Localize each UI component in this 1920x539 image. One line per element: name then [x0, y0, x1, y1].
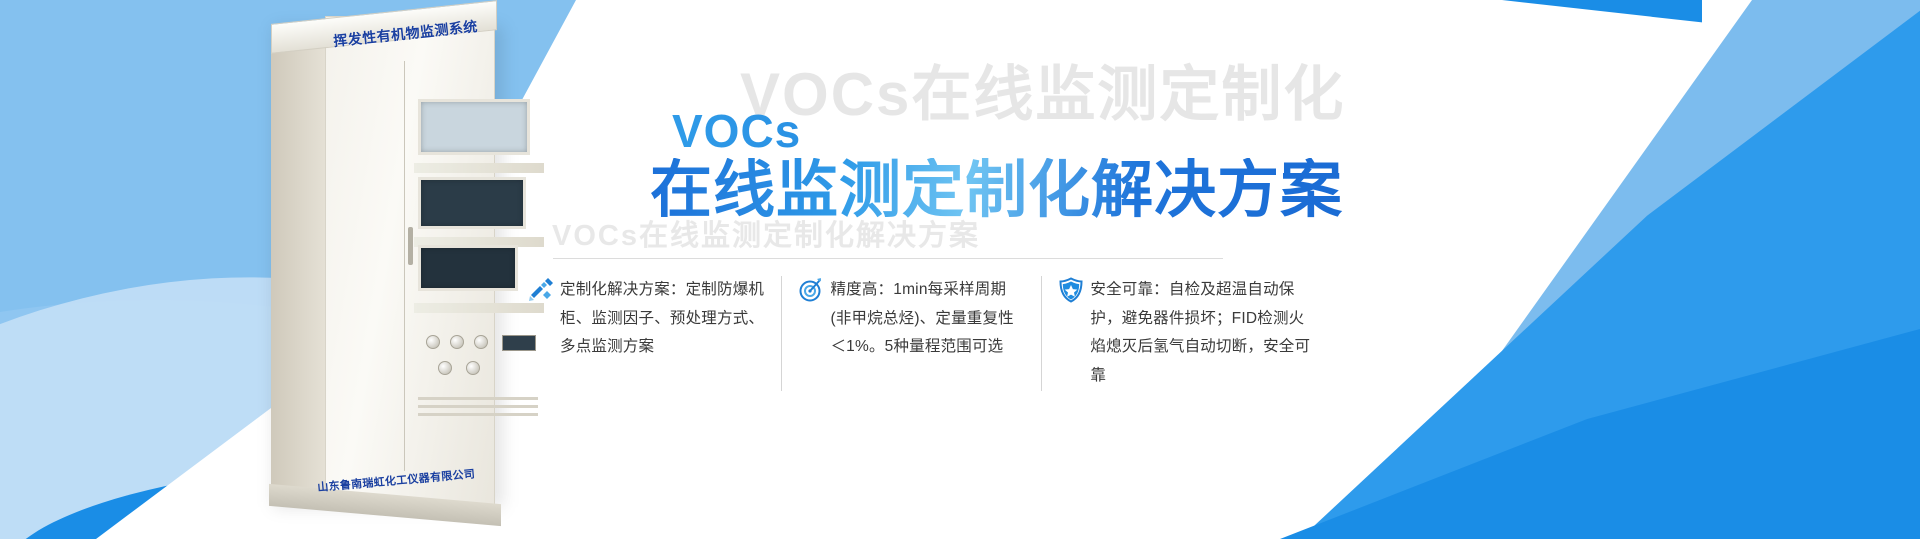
- feature-item-high-precision: 精度高：1min每采样周期(非甲烷总烃)、定量重复性＜1%。5种量程范围可选: [781, 276, 1041, 391]
- feature-text: 精度高：1min每采样周期(非甲烷总烃)、定量重复性＜1%。5种量程范围可选: [830, 276, 1025, 362]
- cabinet-knob-2: [450, 335, 464, 349]
- cabinet-vent-3: [418, 413, 538, 416]
- cabinet-display-lower: [418, 245, 518, 291]
- feature-text: 安全可靠：自检及超温自动保护，避免器件损坏；FID检测火焰熄灭后氢气自动切断，安…: [1090, 276, 1314, 391]
- feature-item-custom-solution: 定制化解决方案：定制防爆机柜、监测因子、预处理方式、多点监测方案: [520, 276, 781, 391]
- target-accuracy-icon: [798, 277, 824, 303]
- feature-text: 定制化解决方案：定制防爆机柜、监测因子、预处理方式、多点监测方案: [560, 276, 765, 362]
- pencil-ruler-icon: [528, 277, 554, 303]
- cabinet-knob-4: [438, 361, 452, 375]
- headline-vocs: VOCs: [672, 108, 1343, 154]
- cabinet-display-middle: [418, 177, 526, 229]
- headline-chinese: 在线监测定制化解决方案: [650, 158, 1343, 223]
- vocs-promo-banner: VOCs在线监测定制化 VOCs在线监测定制化解决方案 挥发性有机物监测系统: [0, 0, 1920, 539]
- cabinet-door-handle: [408, 227, 413, 265]
- cabinet-door-seam: [404, 61, 405, 471]
- shield-star-icon: [1058, 277, 1084, 303]
- cabinet-knob-1: [426, 335, 440, 349]
- headline-group: VOCs 在线监测定制化解决方案: [672, 108, 1343, 223]
- cabinet-vent-1: [418, 397, 538, 400]
- headline-divider: [553, 258, 1223, 259]
- cabinet-knob-3: [474, 335, 488, 349]
- cabinet-knob-5: [466, 361, 480, 375]
- cabinet-strip-1: [414, 163, 544, 173]
- cabinet-side-panel: [271, 31, 333, 496]
- cabinet-vent-2: [418, 405, 538, 408]
- feature-list: 定制化解决方案：定制防爆机柜、监测因子、预处理方式、多点监测方案 精度高：1mi…: [520, 276, 1330, 391]
- product-cabinet-image: 挥发性有机物监测系统 山东鲁南瑞虹化工仪器有限公司: [255, 8, 520, 518]
- cabinet-front-panel: [325, 16, 495, 508]
- feature-item-safe-reliable: 安全可靠：自检及超温自动保护，避免器件损坏；FID检测火焰熄灭后氢气自动切断，安…: [1041, 276, 1330, 391]
- cabinet-window-upper: [418, 99, 530, 155]
